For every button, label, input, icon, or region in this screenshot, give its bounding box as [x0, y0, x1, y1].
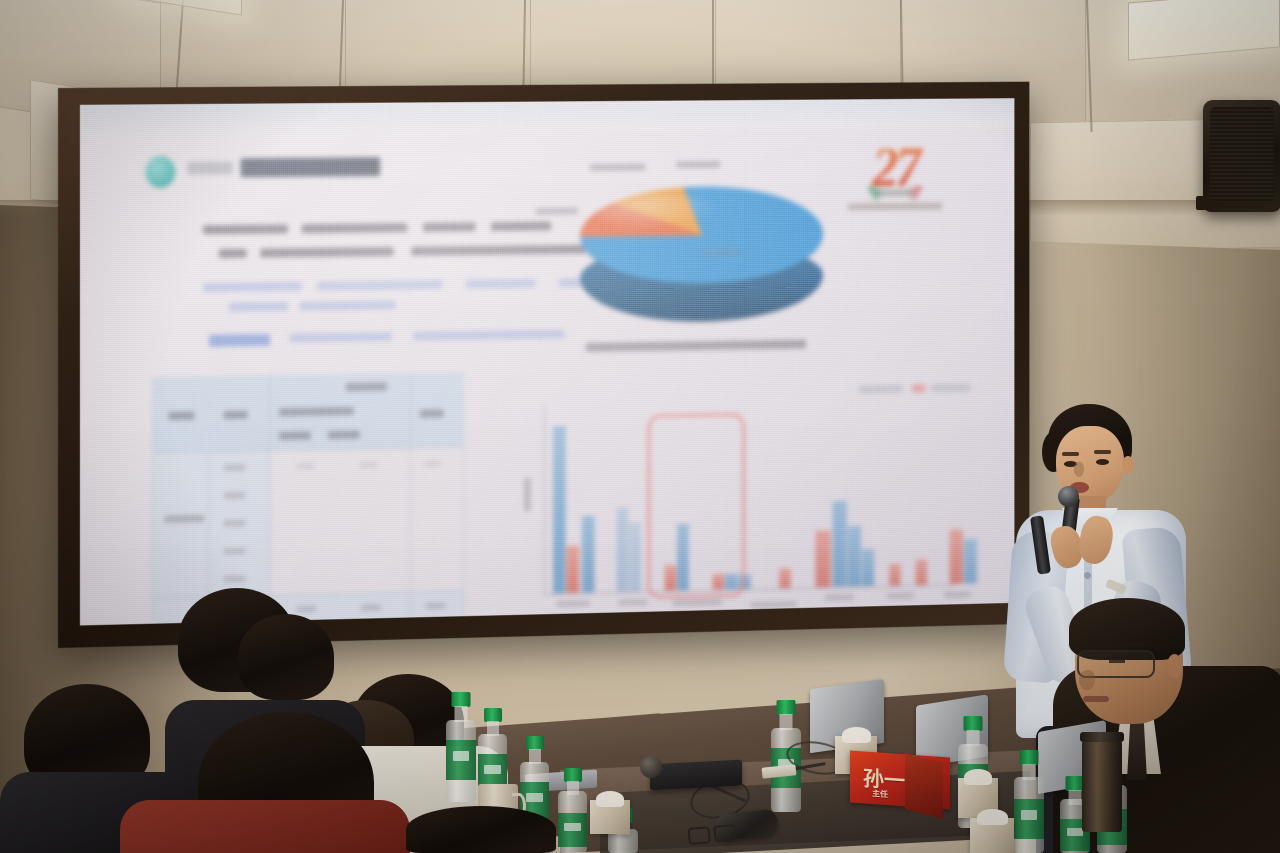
tissue-box[interactable] [590, 800, 630, 834]
speaker-bracket [1196, 196, 1212, 210]
name-tent-card-side [905, 753, 943, 818]
pie-label [676, 161, 720, 168]
eyeglasses-on-table[interactable] [687, 824, 736, 842]
attendee-nose [1079, 670, 1095, 690]
attendee-back-5 [406, 806, 556, 853]
thermos-lid [1080, 732, 1124, 742]
pie-label [590, 164, 646, 171]
bottle-cap [452, 692, 471, 707]
microphone-pod-icon [640, 756, 662, 778]
tissue-box[interactable] [970, 818, 1014, 853]
tissue-puff [977, 809, 1008, 825]
bar-chart-legend-item [931, 384, 971, 392]
slide-heading-prefix [187, 161, 232, 174]
presenter-ear [1122, 456, 1134, 474]
speaker-grill [1210, 107, 1274, 202]
tissue-puff [596, 791, 624, 807]
attendee-mouth [1083, 696, 1109, 702]
slide-top-stripe [80, 98, 1014, 135]
led-video-wall[interactable]: 27 [58, 82, 1029, 648]
pie-label [536, 207, 579, 214]
logo-tagline [848, 203, 942, 211]
wall-speaker [1203, 100, 1280, 212]
tent-card-title: 主任 [872, 788, 888, 800]
water-bottle[interactable] [1014, 750, 1044, 853]
led-panel-surface: 27 [80, 98, 1014, 625]
pie-highlight [595, 192, 717, 230]
attendee-eyebrow [1079, 642, 1145, 647]
bar-chart-y-title [524, 478, 531, 512]
tissue-puff [842, 727, 871, 743]
bottle-cap [526, 736, 544, 750]
water-bottle[interactable] [558, 768, 587, 853]
bottle-cap [484, 708, 502, 722]
revenue-composition-pie [580, 185, 823, 323]
conference-microphone-base[interactable] [650, 760, 742, 791]
bar-chart-legend-item [859, 385, 902, 394]
period-comparison-bar [503, 390, 961, 624]
attendee-back-4-shoulders [120, 800, 410, 853]
bottle-cap [1020, 750, 1039, 765]
pie-caption [586, 340, 806, 352]
tea-thermos[interactable] [1082, 740, 1122, 832]
presentation-slide: 27 [80, 98, 1014, 625]
presenter-nose [1074, 462, 1084, 477]
tissue-puff [964, 769, 992, 785]
pie-label [703, 249, 741, 256]
logo-ribbon [868, 186, 923, 200]
attendee-ear [1167, 654, 1182, 678]
bottle-cap [564, 768, 582, 782]
bar-chart-y-axis [543, 407, 544, 596]
bar-chart-highlight-box [647, 413, 745, 599]
logo-number: 27 [848, 143, 942, 193]
bar-chart-legend-swatch [912, 384, 925, 392]
table-header [153, 373, 463, 452]
slide-heading-title [241, 157, 380, 177]
teal-circle-icon [146, 156, 176, 188]
conference-room-scene: 27 [0, 0, 1280, 853]
bottle-cap [777, 700, 796, 715]
anniversary-27-logo: 27 [848, 143, 942, 210]
bottle-cap [964, 716, 983, 731]
water-bottle[interactable] [446, 692, 476, 802]
